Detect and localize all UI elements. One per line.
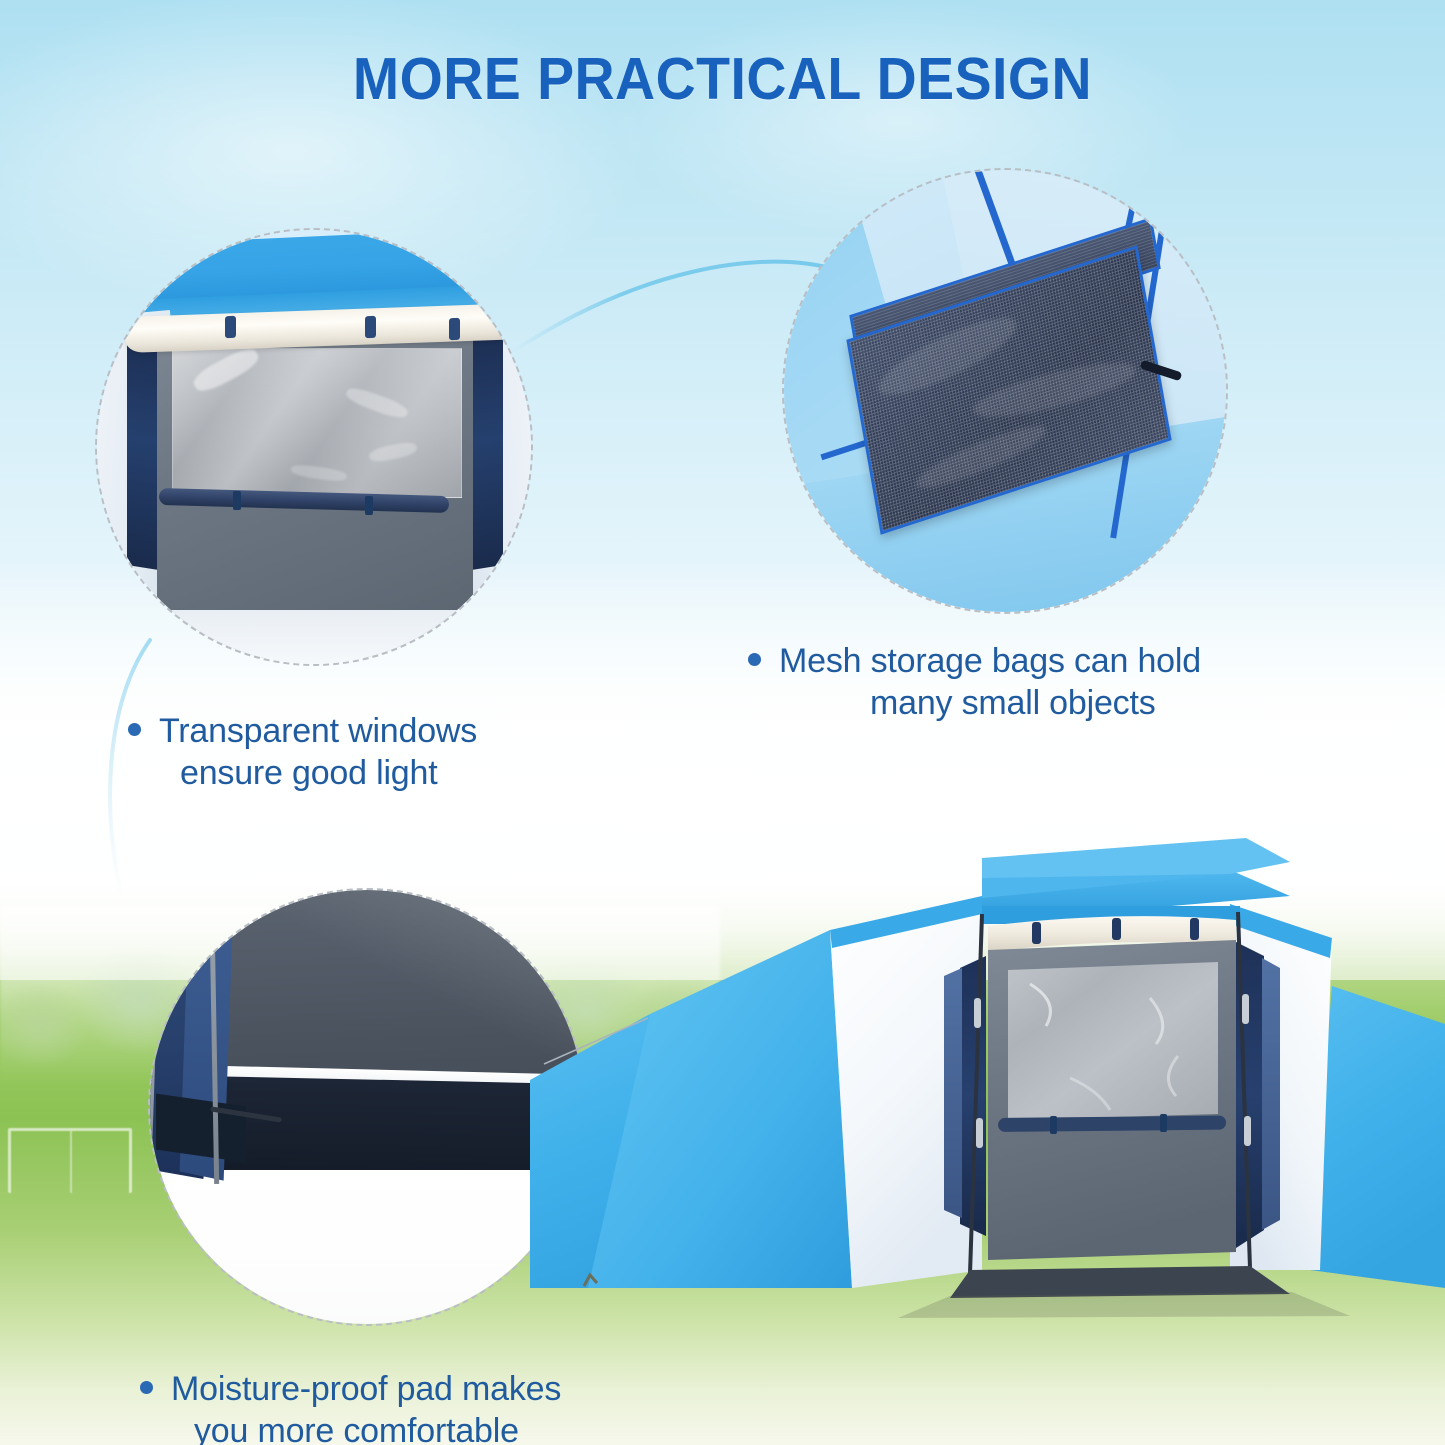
feature-photo-moisture-proof-pad <box>148 888 586 1326</box>
soccer-goal-background <box>8 1128 132 1193</box>
caption-line-1: Transparent windows <box>159 712 477 750</box>
caption-line-2: you more comfortable <box>140 1410 561 1445</box>
caption-transparent-window: Transparent windows ensure good light <box>128 710 477 794</box>
bullet-icon <box>140 1381 153 1394</box>
caption-mesh-storage: Mesh storage bags can hold many small ob… <box>748 640 1201 724</box>
feature-photo-transparent-window <box>95 228 533 666</box>
bullet-icon <box>128 723 141 736</box>
page-title: MORE PRACTICAL DESIGN <box>43 45 1401 113</box>
caption-line-1: Moisture-proof pad makes <box>171 1370 561 1408</box>
caption-moisture-proof-pad: Moisture-proof pad makes you more comfor… <box>140 1368 561 1445</box>
feature-photo-mesh-storage <box>782 168 1228 614</box>
caption-line-2: many small objects <box>748 682 1201 724</box>
infographic-canvas: MORE PRACTICAL DESIGN <box>0 0 1445 1445</box>
bullet-icon <box>748 653 761 666</box>
caption-line-1: Mesh storage bags can hold <box>779 642 1201 680</box>
caption-line-2: ensure good light <box>128 752 477 794</box>
main-product-photo <box>530 818 1445 1348</box>
